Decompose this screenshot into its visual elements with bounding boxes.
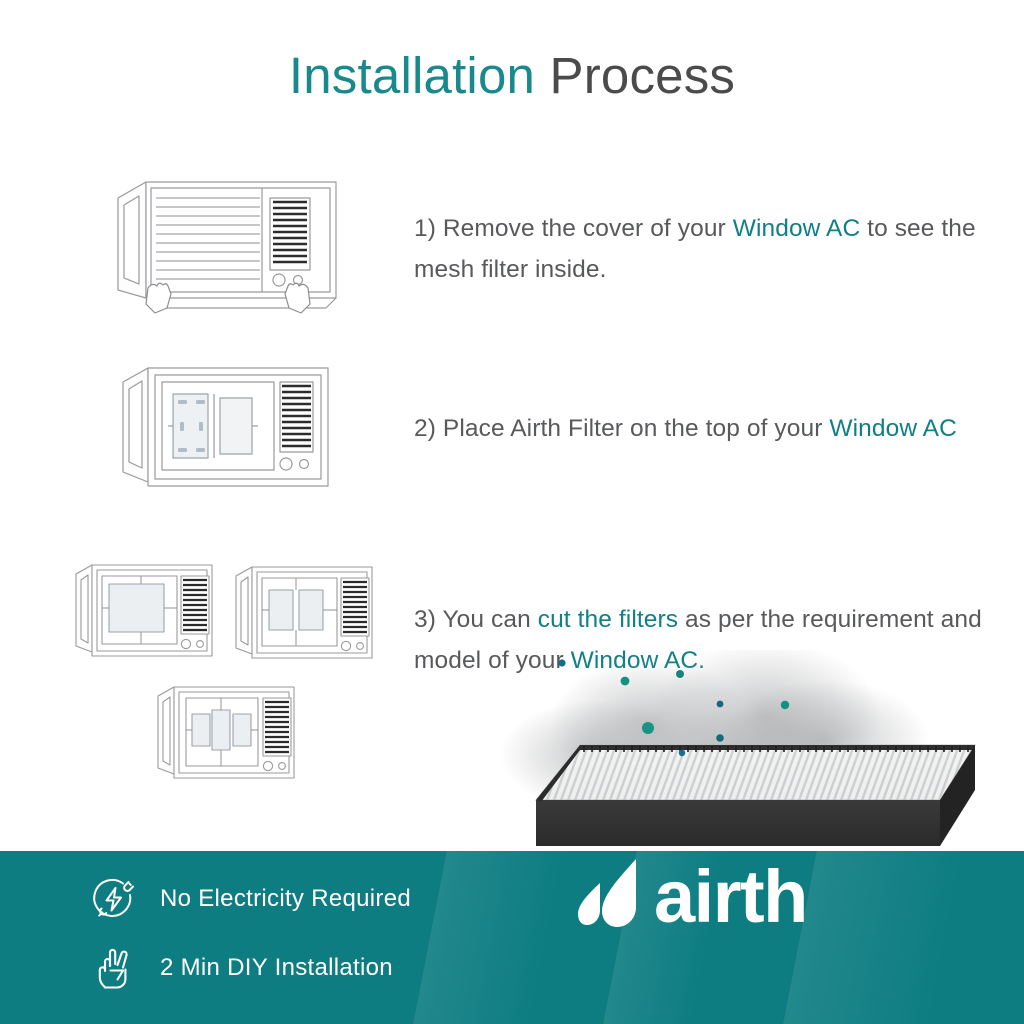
step-1-text: 1) Remove the cover of your Window AC to… [414,208,989,290]
step-2-text: 2) Place Airth Filter on the top of your… [414,408,989,449]
page-title: Installation Process [0,46,1024,105]
badge-diy-installation-label: 2 Min DIY Installation [160,954,393,982]
leaf-icon [578,857,640,937]
smoke-cloud [610,710,850,810]
step-2-part-1: Window AC [829,415,957,442]
airth-logo[interactable]: airth [578,857,807,937]
footer-sheen [783,851,967,1024]
page-title-accent: Installation [289,47,535,104]
installation-process-infographic: Installation Process [0,0,1024,1024]
ac-variant-double-filter [236,567,372,658]
window-ac-with-filter-illustration [118,358,333,498]
page-title-rest: Process [535,47,735,104]
filter-frame-front [536,800,940,846]
ac-variant-triple-filter [158,687,294,778]
badge-diy-installation: 2 Min DIY Installation [90,944,393,992]
step-3-part-1: cut the filters [538,606,678,633]
footer-bar: No Electricity Required 2 Min DIY Instal… [0,851,1024,1024]
badge-no-electricity: No Electricity Required [90,875,411,923]
lightning-bolt-icon [90,875,138,923]
badge-no-electricity-label: No Electricity Required [160,885,411,913]
airth-wordmark: airth [654,860,807,934]
victory-hand-icon [90,944,138,992]
three-window-ac-filter-variants-illustration [72,552,392,792]
smoke-cloud [720,680,930,800]
ac-variant-single-filter [76,565,212,656]
window-ac-removing-cover-illustration [112,172,342,322]
smoke-cloud [500,700,690,810]
step-1-part-0: 1) Remove the cover of your [414,215,733,242]
filter-pleated-surface [536,745,975,800]
step-3-text: 3) You can cut the filters as per the re… [414,599,1014,681]
filter-frame-side [940,745,975,846]
step-2-part-0: 2) Place Airth Filter on the top of your [414,415,829,442]
step-1-part-1: Window AC [733,215,861,242]
step-3-part-3: Window AC. [571,647,705,674]
footer-sheen [413,851,567,1024]
step-3-part-0: 3) You can [414,606,538,633]
